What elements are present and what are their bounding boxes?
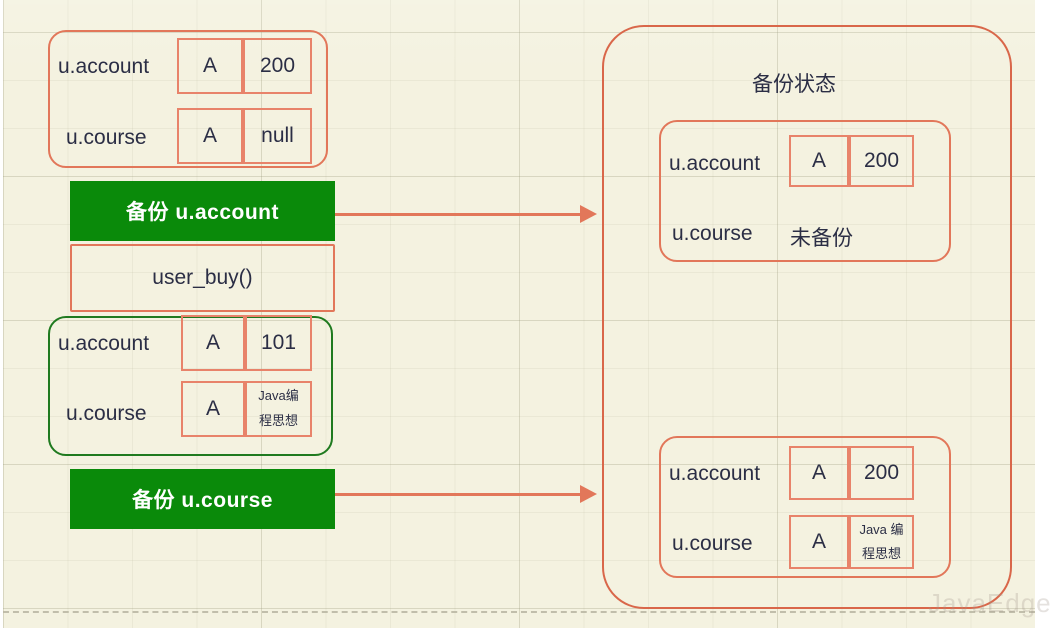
state-before-row-1-value: null [243,108,312,164]
snapshot-second-row-1-key: A [789,515,849,569]
state-after-row-1-value-line2: 程思想 [245,408,312,435]
state-after-row-1-key: A [181,381,245,437]
snapshot-second-row-1-value-line1: Java 编 [849,517,914,543]
state-before-row-1-key: A [177,108,243,164]
state-after-row-0-key: A [181,315,245,371]
snapshot-second-row-1-value-line2: 程思想 [849,541,914,567]
snapshot-second-row-0-key: A [789,446,849,500]
state-before-row-0-value: 200 [243,38,312,94]
state-after-row-1-label: u.course [66,402,147,426]
arrow-backup-account-head [580,205,597,223]
bottom-dashed-rule [3,611,1035,613]
snapshot-second-row-0-value: 200 [849,446,914,500]
snapshot-first-row-0-label: u.account [669,152,760,176]
arrow-backup-account-line [335,213,585,216]
snapshot-first-note-label: u.course [672,222,753,246]
snapshot-second-row-1-label: u.course [672,532,753,556]
arrow-backup-course-head [580,485,597,503]
action-backup-account-bar[interactable]: 备份 u.account [70,181,335,241]
snapshot-first-row-0-key: A [789,135,849,187]
state-after-row-0-value: 101 [245,315,312,371]
snapshot-first-row-0-value: 200 [849,135,914,187]
snapshot-second-row-0-label: u.account [669,462,760,486]
state-after-row-0-label: u.account [58,332,149,356]
watermark-label: JavaEdge [928,588,1051,619]
state-before-row-0-key: A [177,38,243,94]
method-box-label: user_buy() [70,244,335,312]
diagram-canvas: u.account A 200 u.course A null 备份 u.acc… [0,0,1051,640]
state-before-row-1-label: u.course [66,126,147,150]
snapshot-first-note-value: 未备份 [790,222,853,252]
action-backup-course-bar[interactable]: 备份 u.course [70,469,335,529]
backup-state-title: 备份状态 [752,68,836,98]
state-before-row-0-label: u.account [58,55,149,79]
state-after-row-1-value-line1: Java编 [245,383,312,410]
arrow-backup-course-line [335,493,585,496]
